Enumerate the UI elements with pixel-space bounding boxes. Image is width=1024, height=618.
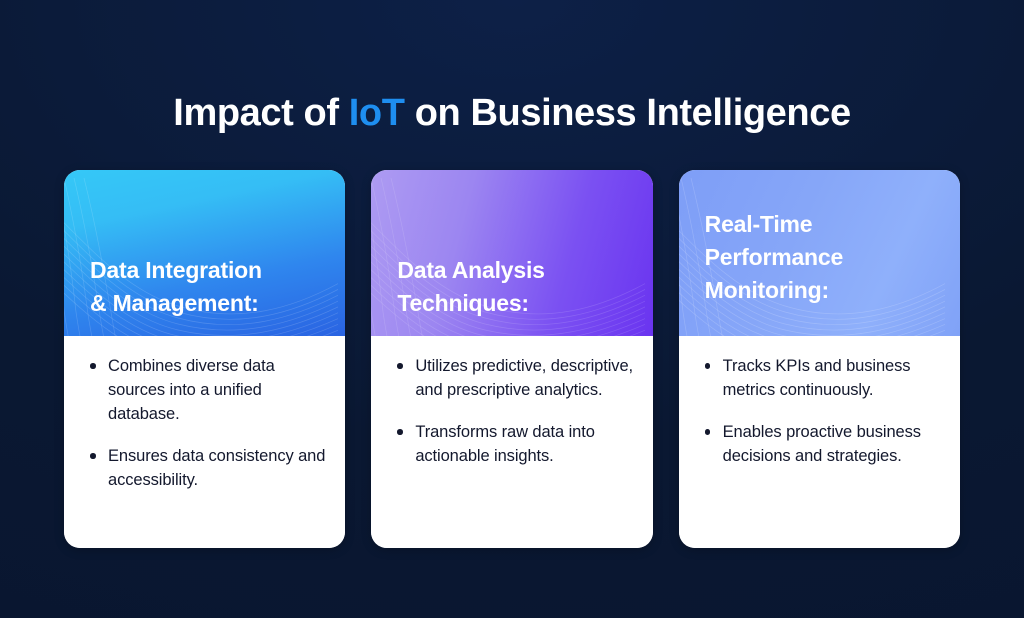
bullet-dot-icon: [397, 429, 403, 435]
card-data-analysis-techniques[interactable]: Data Analysis Techniques: Utilizes predi…: [371, 170, 652, 548]
card-title-line: Monitoring:: [705, 274, 942, 307]
card-title-line: Data Integration: [90, 254, 323, 287]
card-body: Tracks KPIs and business metrics continu…: [679, 336, 960, 548]
page-title-prefix: Impact of: [173, 92, 348, 134]
card-title: Data Integration & Management:: [90, 254, 323, 320]
bullet-dot-icon: [90, 363, 96, 369]
bullet-list: Tracks KPIs and business metrics continu…: [705, 354, 942, 468]
card-header: Data Analysis Techniques:: [371, 170, 652, 336]
list-item: Tracks KPIs and business metrics continu…: [705, 354, 942, 402]
page-title-accent: IoT: [349, 92, 405, 134]
list-item: Combines diverse data sources into a uni…: [90, 354, 327, 426]
slide-canvas: Impact of IoT on Business Intelligence: [0, 0, 1024, 618]
list-item: Transforms raw data into actionable insi…: [397, 420, 634, 468]
page-title-suffix: on Business Intelligence: [405, 92, 851, 134]
bullet-list: Combines diverse data sources into a uni…: [90, 354, 327, 492]
page-title: Impact of IoT on Business Intelligence: [0, 93, 1024, 135]
bullet-dot-icon: [705, 429, 711, 435]
list-item-text: Tracks KPIs and business metrics continu…: [723, 357, 911, 399]
list-item: Utilizes predictive, descriptive, and pr…: [397, 354, 634, 402]
list-item-text: Enables proactive business decisions and…: [723, 423, 921, 465]
card-title-line: Techniques:: [397, 287, 630, 320]
card-body: Combines diverse data sources into a uni…: [64, 336, 345, 548]
bullet-dot-icon: [705, 363, 711, 369]
card-real-time-performance-monitoring[interactable]: Real-Time Performance Monitoring: Tracks…: [679, 170, 960, 548]
card-row: Data Integration & Management: Combines …: [64, 170, 960, 548]
list-item: Enables proactive business decisions and…: [705, 420, 942, 468]
list-item-text: Combines diverse data sources into a uni…: [108, 357, 275, 423]
card-header: Data Integration & Management:: [64, 170, 345, 336]
list-item-text: Ensures data consistency and accessibili…: [108, 447, 325, 489]
card-title-line: & Management:: [90, 287, 323, 320]
card-body: Utilizes predictive, descriptive, and pr…: [371, 336, 652, 548]
card-title-line: Data Analysis: [397, 254, 630, 287]
bullet-dot-icon: [397, 363, 403, 369]
list-item-text: Transforms raw data into actionable insi…: [415, 423, 594, 465]
card-title-line: Performance: [705, 241, 942, 274]
list-item-text: Utilizes predictive, descriptive, and pr…: [415, 357, 633, 399]
card-title-line: Real-Time: [705, 208, 942, 241]
card-header: Real-Time Performance Monitoring:: [679, 170, 960, 336]
bullet-dot-icon: [90, 453, 96, 459]
list-item: Ensures data consistency and accessibili…: [90, 444, 327, 492]
bullet-list: Utilizes predictive, descriptive, and pr…: [397, 354, 634, 468]
card-data-integration-management[interactable]: Data Integration & Management: Combines …: [64, 170, 345, 548]
card-title: Real-Time Performance Monitoring:: [705, 208, 942, 307]
card-title: Data Analysis Techniques:: [397, 254, 630, 320]
